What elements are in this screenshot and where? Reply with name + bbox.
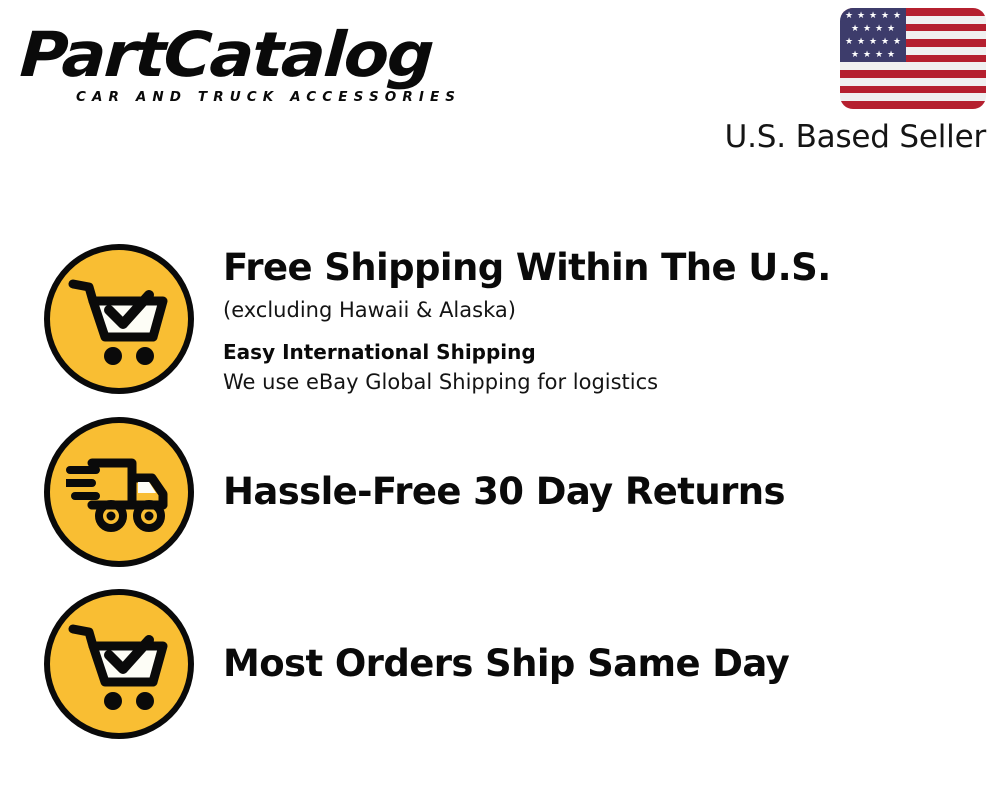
flag-star: ★ bbox=[881, 37, 889, 46]
flag-star: ★ bbox=[863, 50, 871, 59]
brand-logo[interactable]: PartCatalog CAR AND TRUCK ACCESSORIES bbox=[22, 22, 492, 105]
flag-star: ★ bbox=[869, 11, 877, 20]
shopping-cart-check-icon bbox=[44, 244, 194, 394]
flag-star: ★ bbox=[851, 50, 859, 59]
us-based-seller-label: U.S. Based Seller bbox=[716, 120, 986, 154]
flag-star: ★ bbox=[857, 11, 865, 20]
feature-text: Hassle-Free 30 Day Returns bbox=[194, 470, 1000, 514]
shopping-cart-check-icon bbox=[44, 589, 194, 739]
feature-list: Free Shipping Within The U.S. (excluding… bbox=[0, 232, 1000, 750]
flag-stripe bbox=[840, 86, 986, 94]
us-based-seller-badge: ★ ★ ★ ★ ★ ★ ★ ★ ★ ★ ★ ★ ★ ★ ★ ★ ★ ★ U.S.… bbox=[716, 8, 986, 154]
feature-heading: Most Orders Ship Same Day bbox=[223, 642, 980, 686]
flag-star: ★ bbox=[875, 50, 883, 59]
flag-star: ★ bbox=[875, 24, 883, 33]
flag-stripe bbox=[840, 101, 986, 109]
feature-subtext-strong: Easy International Shipping bbox=[223, 338, 980, 366]
delivery-truck-icon bbox=[44, 417, 194, 567]
flag-stripe bbox=[840, 70, 986, 78]
brand-wordmark: PartCatalog bbox=[18, 22, 520, 88]
flag-star: ★ bbox=[857, 37, 865, 46]
flag-star: ★ bbox=[887, 50, 895, 59]
flag-star: ★ bbox=[869, 37, 877, 46]
flag-star: ★ bbox=[881, 11, 889, 20]
flag-star: ★ bbox=[845, 37, 853, 46]
feature-subtext: (excluding Hawaii & Alaska) bbox=[223, 295, 980, 325]
feature-row: Most Orders Ship Same Day bbox=[0, 578, 1000, 750]
flag-canton: ★ ★ ★ ★ ★ ★ ★ ★ ★ ★ ★ ★ ★ ★ ★ ★ ★ ★ bbox=[840, 8, 906, 62]
flag-star: ★ bbox=[887, 24, 895, 33]
page-header: PartCatalog CAR AND TRUCK ACCESSORIES ★ … bbox=[0, 0, 1000, 170]
feature-row: Free Shipping Within The U.S. (excluding… bbox=[0, 232, 1000, 406]
feature-row: Hassle-Free 30 Day Returns bbox=[0, 406, 1000, 578]
brand-tagline: CAR AND TRUCK ACCESSORIES bbox=[76, 89, 492, 105]
feature-subtext-note: We use eBay Global Shipping for logistic… bbox=[223, 367, 980, 397]
flag-star: ★ bbox=[845, 11, 853, 20]
feature-heading: Hassle-Free 30 Day Returns bbox=[223, 470, 980, 514]
flag-star: ★ bbox=[863, 24, 871, 33]
feature-text: Most Orders Ship Same Day bbox=[194, 642, 1000, 686]
flag-star: ★ bbox=[851, 24, 859, 33]
feature-heading: Free Shipping Within The U.S. bbox=[223, 246, 980, 290]
us-flag-icon: ★ ★ ★ ★ ★ ★ ★ ★ ★ ★ ★ ★ ★ ★ ★ ★ ★ ★ bbox=[840, 8, 986, 109]
flag-star: ★ bbox=[893, 37, 901, 46]
feature-text: Free Shipping Within The U.S. (excluding… bbox=[194, 242, 1000, 397]
flag-star: ★ bbox=[893, 11, 901, 20]
